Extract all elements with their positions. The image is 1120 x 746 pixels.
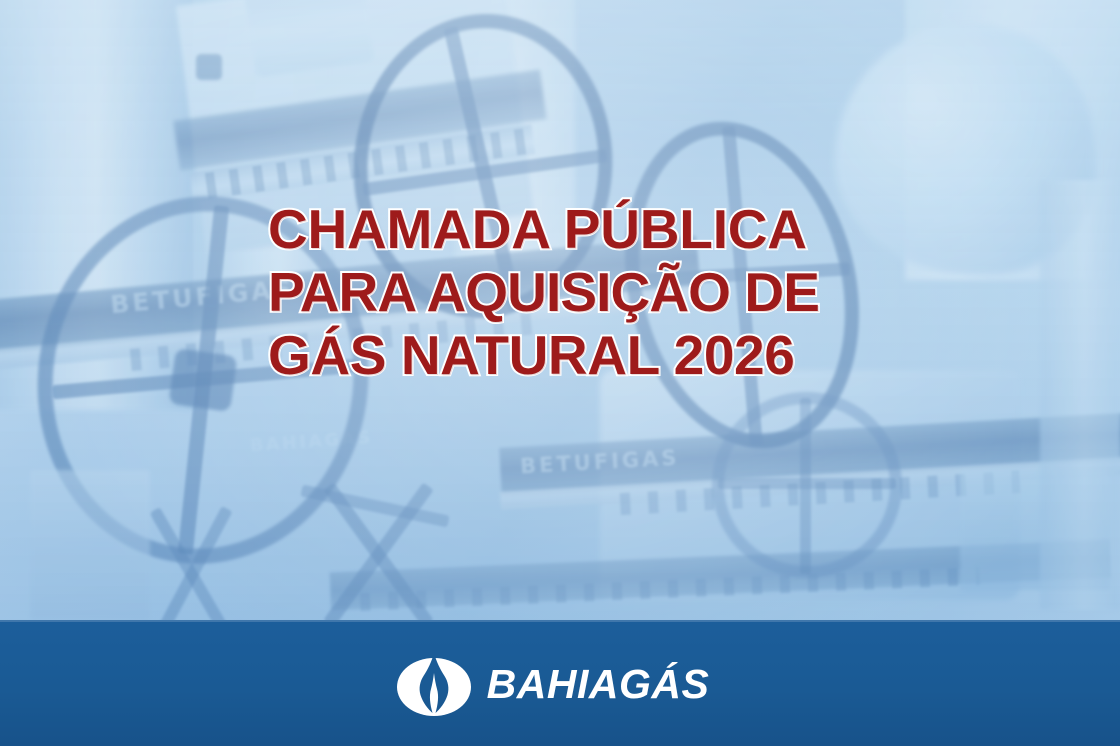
bahiagas-promotional-banner: BETUFIGAS BETUFIGAS BAHIAGAS CHAMAD xyxy=(0,0,1120,746)
footer-top-edge xyxy=(0,620,1120,622)
headline-line-3: GÁS NATURAL 2026 xyxy=(268,324,928,387)
footer-bar: BAHIAGÁS xyxy=(0,620,1120,746)
headline-block: CHAMADA PÚBLICA PARA AQUISIÇÃO DE GÁS NA… xyxy=(268,198,928,387)
bahiagas-logo: BAHIAGÁS xyxy=(395,650,710,716)
bahiagas-flame-icon xyxy=(395,650,473,716)
headline-line-1: CHAMADA PÚBLICA xyxy=(268,198,928,261)
headline-line-2: PARA AQUISIÇÃO DE xyxy=(268,261,928,324)
bahiagas-wordmark: BAHIAGÁS xyxy=(487,664,710,705)
